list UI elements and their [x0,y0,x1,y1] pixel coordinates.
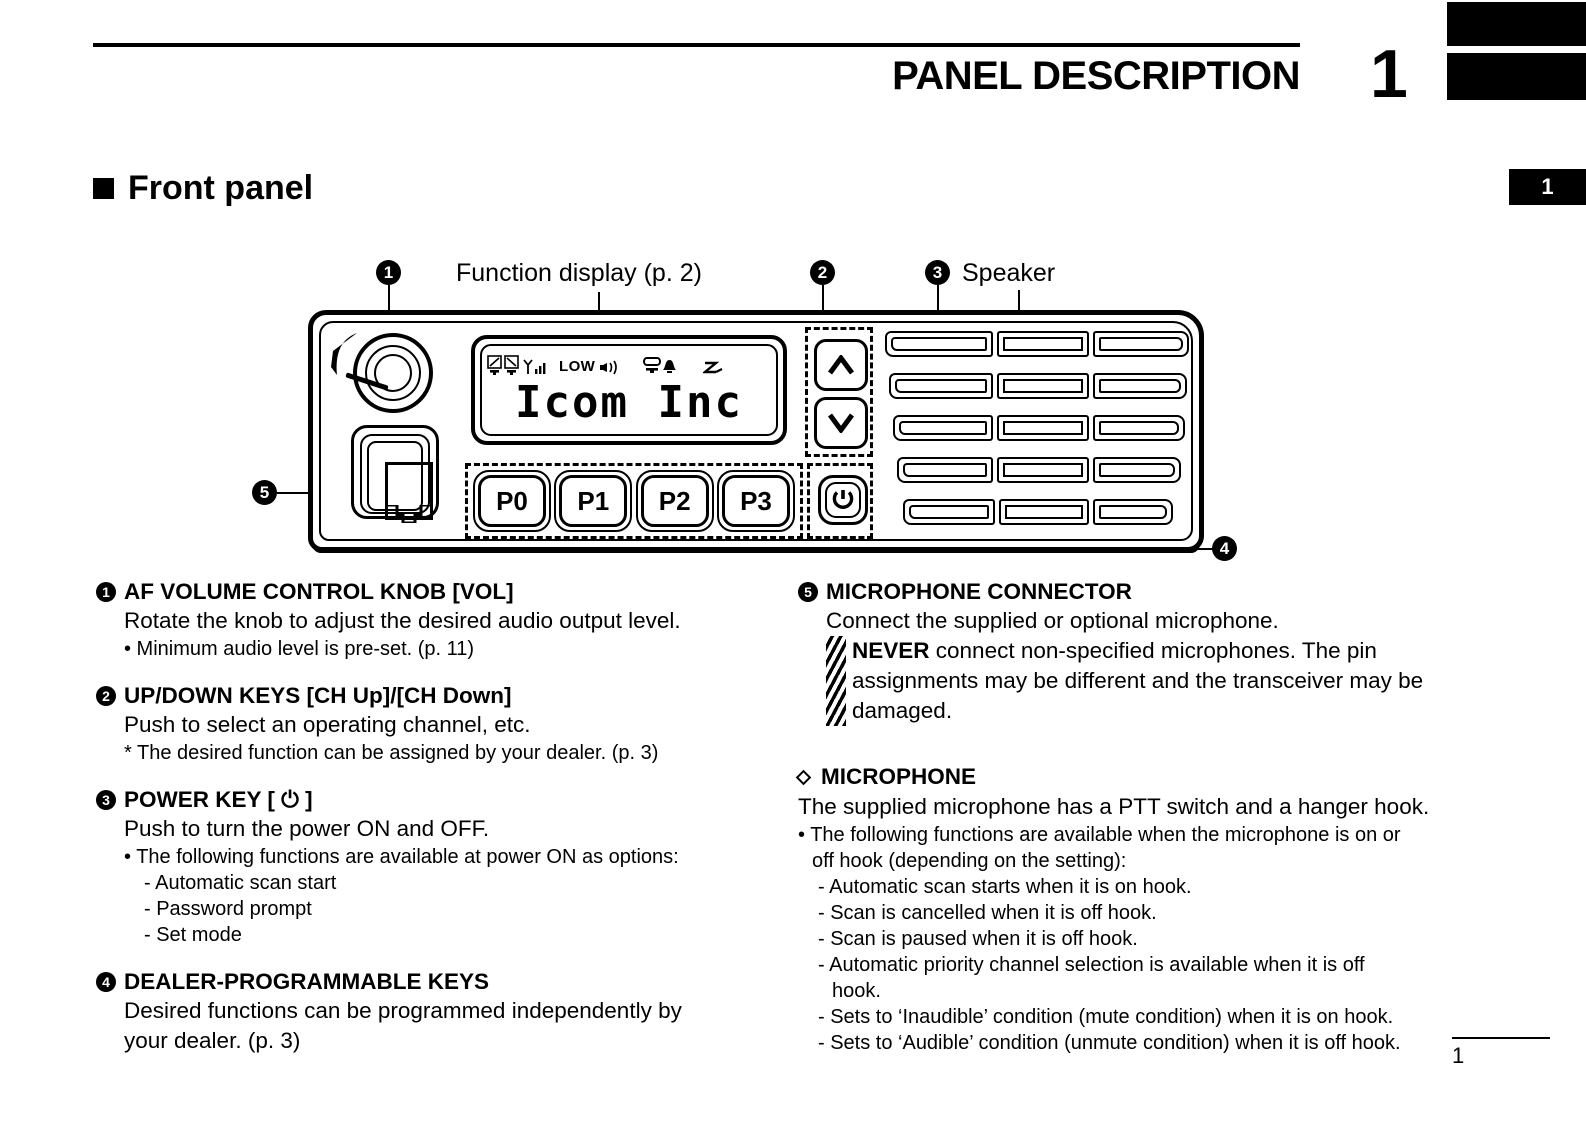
entry-line: Rotate the knob to adjust the desired au… [124,606,756,636]
knob-rotation-arc-icon [331,331,361,377]
entry-number: 2 [96,686,116,706]
power-key-inner-edge [825,482,861,518]
entry-number: 1 [96,582,116,602]
chapter-number-large: 1 [1370,40,1408,108]
mic-item: - Scan is cancelled when it is off hook. [798,900,1458,926]
entry-line: your dealer. (p. 3) [124,1026,756,1056]
edge-tab-block-second [1447,53,1586,100]
pkey-p0[interactable]: P0 [478,475,546,527]
mic-jack-notch [387,505,431,523]
mic-item: - Sets to ‘Inaudible’ condition (mute co… [798,1004,1458,1030]
entry-note: * The desired function can be assigned b… [124,740,756,766]
lcd-indicator-row: LOW [487,353,773,375]
warning-text: NEVER connect non-specified microphones.… [852,636,1458,726]
front-panel-diagram: 1 Function display (p. 2) 2 3 Speaker 5 … [0,248,1300,568]
pkey-p1-wrap: P1 [554,470,632,532]
monitor-icon [703,361,723,375]
mic-item: - Sets to ‘Audible’ condition (unmute co… [798,1030,1458,1056]
entry-body: Push to turn the power ON and OFF. • The… [96,814,756,948]
diamond-bullet-icon [796,769,812,785]
warning-rest: connect non-specified microphones. The p… [852,638,1423,723]
low-power-label: LOW [559,358,595,375]
entry-line: Push to select an operating channel, etc… [124,710,756,740]
ch-up-key[interactable] [814,339,868,391]
page-title: PANEL DESCRIPTION [700,52,1300,100]
page-header: PANEL DESCRIPTION 1 1 [0,0,1586,150]
callout-3: 3 [925,260,950,285]
speaker-grille [881,331,1193,543]
speaker-row [881,373,1193,405]
entry-heading: 3 POWER KEY [ ⏻ ] [96,786,756,814]
speaker-volume-icon [599,359,621,375]
callout-5: 5 [252,480,277,505]
speaker-row [881,499,1193,531]
chevron-down-icon [828,413,854,433]
radio-chassis: LOW [308,310,1204,552]
entry-dash-item: - Automatic scan start [124,870,756,896]
section-heading-label: Front panel [128,168,313,208]
tx-indicator-icon [487,355,502,375]
entry-heading: 4 DEALER-PROGRAMMABLE KEYS [96,968,756,996]
entry-dealer-programmable-keys: 4 DEALER-PROGRAMMABLE KEYS Desired funct… [96,968,756,1056]
programmable-keys-group: P0 P1 P2 P3 [465,463,803,539]
microphone-section: MICROPHONE The supplied microphone has a… [798,762,1458,1056]
mic-lead-line: The supplied microphone has a PTT switch… [798,792,1458,822]
mic-item: - Automatic priority channel selection i… [798,952,1458,978]
entry-body: Push to select an operating channel, etc… [96,710,756,766]
entry-af-volume-control-knob: 1 AF VOLUME CONTROL KNOB [VOL] Rotate th… [96,578,756,662]
right-text-column: 5 MICROPHONE CONNECTOR Connect the suppl… [798,578,1458,1056]
entry-number: 3 [96,790,116,810]
entry-title: DEALER-PROGRAMMABLE KEYS [124,968,489,996]
function-display-label: Function display (p. 2) [456,258,702,288]
mic-item-cont: hook. [798,978,1458,1004]
entry-number: 4 [96,972,116,992]
rx-indicator-icon [504,355,519,375]
callout-2: 2 [810,260,835,285]
section-heading: Front panel [93,168,313,208]
power-key-group [807,463,873,539]
entry-microphone-connector: 5 MICROPHONE CONNECTOR Connect the suppl… [798,578,1458,726]
talkaround-icon [643,355,661,375]
pkey-p1[interactable]: P1 [559,475,627,527]
pkey-p2-wrap: P2 [636,470,714,532]
callout-4: 4 [1212,536,1237,561]
speaker-row [881,457,1193,489]
speaker-row [881,415,1193,447]
entry-note: • Minimum audio level is pre-set. (p. 11… [124,636,756,662]
modular-jack-icon[interactable] [351,425,439,519]
mic-item: - Automatic scan starts when it is on ho… [798,874,1458,900]
entry-dash-item: - Password prompt [124,896,756,922]
pkey-p3[interactable]: P3 [722,475,790,527]
entry-line: Desired functions can be programmed inde… [124,996,756,1026]
bell-icon [662,359,677,375]
mic-jack-ring-2 [360,434,430,514]
entry-body: Connect the supplied or optional microph… [798,606,1458,726]
function-display: LOW [471,335,787,445]
power-key[interactable] [818,475,868,525]
square-bullet-icon [93,178,114,199]
lcd-text: Icom Inc [475,379,783,427]
entry-heading: 2 UP/DOWN KEYS [CH Up]/[CH Down] [96,682,756,710]
chapter-tab: 1 [1509,169,1586,205]
entry-number: 5 [798,582,818,602]
entry-title: AF VOLUME CONTROL KNOB [VOL] [124,578,514,606]
entry-heading: 5 MICROPHONE CONNECTOR [798,578,1458,606]
pkey-p0-wrap: P0 [473,470,551,532]
pkey-p2[interactable]: P2 [641,475,709,527]
mic-bullet: • The following functions are available … [798,822,1458,848]
entry-note: • The following functions are available … [124,844,756,870]
never-warning: NEVER connect non-specified microphones.… [826,636,1458,726]
microphone-section-heading: MICROPHONE [798,762,1458,792]
antenna-signal-icon [523,359,547,375]
warning-strong: NEVER [852,638,930,663]
header-rule [93,43,1300,47]
updown-keys-group [805,327,873,457]
entry-dash-item: - Set mode [124,922,756,948]
microphone-heading-label: MICROPHONE [821,762,976,792]
pkey-p3-wrap: P3 [717,470,795,532]
page-number: 1 [1452,1042,1550,1070]
edge-tab-block-top [1447,2,1586,46]
entry-up-down-keys: 2 UP/DOWN KEYS [CH Up]/[CH Down] Push to… [96,682,756,766]
mic-jack-ring-3 [367,441,423,511]
warning-hatch-icon [826,636,846,726]
mic-bullet-cont: off hook (depending on the setting): [798,848,1458,874]
entry-body: Desired functions can be programmed inde… [96,996,756,1056]
mic-item: - Scan is paused when it is off hook. [798,926,1458,952]
entry-line: Connect the supplied or optional microph… [826,606,1458,636]
callout-1: 1 [376,260,401,285]
entry-power-key: 3 POWER KEY [ ⏻ ] Push to turn the power… [96,786,756,948]
entry-title: UP/DOWN KEYS [CH Up]/[CH Down] [124,682,511,710]
rotary-knob-icon[interactable] [353,333,433,413]
chevron-up-icon [828,355,854,375]
footer-rule [1452,1037,1550,1039]
left-text-column: 1 AF VOLUME CONTROL KNOB [VOL] Rotate th… [96,578,756,1076]
ch-down-key[interactable] [814,397,868,449]
entry-body: Rotate the knob to adjust the desired au… [96,606,756,662]
entry-title: POWER KEY [ ⏻ ] [124,786,313,814]
speaker-label: Speaker [962,258,1055,288]
radio-chassis-base [312,544,1200,553]
entry-line: Push to turn the power ON and OFF. [124,814,756,844]
entry-heading: 1 AF VOLUME CONTROL KNOB [VOL] [96,578,756,606]
speaker-row [881,331,1193,363]
entry-title: MICROPHONE CONNECTOR [826,578,1132,606]
